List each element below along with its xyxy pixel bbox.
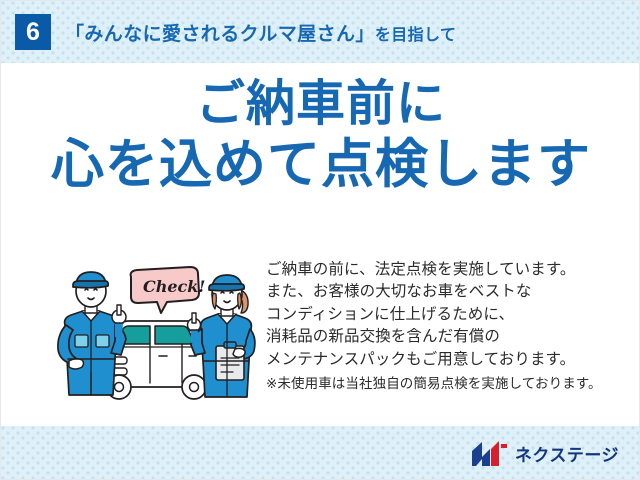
footer-band: ネクステージ — [1, 426, 640, 480]
promo-banner: 6 「みんなに愛されるクルマ屋さん」を目指して ご納車前に 心を込めて点検します… — [0, 0, 640, 480]
n-logo-icon — [470, 441, 508, 467]
header-title-tail: を目指して — [375, 27, 457, 44]
brand-logo-text: ネクステージ — [515, 441, 619, 466]
body-line-1: ご納車の前に、法定点検を実施しています。 — [266, 259, 618, 281]
headline-line-1: ご納車前に — [1, 79, 640, 131]
header-inner: 6 「みんなに愛されるクルマ屋さん」を目指して — [1, 1, 640, 63]
illustration-mechanics-van: Check! — [49, 263, 264, 403]
body-line-3: コンディションに仕上げるために、 — [266, 304, 618, 326]
header-title-main: 「みんなに愛されるクルマ屋さん」 — [65, 24, 375, 45]
body-line-4: 消耗品の新品交換を含んだ有償の — [266, 326, 618, 348]
check-bubble-text: Check! — [143, 277, 205, 296]
body-line-5: メンテナンスパックもご用意しております。 — [266, 349, 618, 371]
main-stage: ご納車前に 心を込めて点検します ご納車の前に、法定点検を実施しています。 また… — [1, 63, 640, 426]
section-number-badge: 6 — [15, 14, 51, 50]
body-footnote: ※未使用車は当社独自の簡易点検を実施しております。 — [266, 374, 618, 394]
header-title: 「みんなに愛されるクルマ屋さん」を目指して — [65, 19, 456, 46]
body-line-2: また、お客様の大切なお車をベストな — [266, 281, 618, 303]
brand-logo: ネクステージ — [470, 426, 619, 480]
page-title: ご納車前に 心を込めて点検します — [1, 79, 640, 193]
body-copy: ご納車の前に、法定点検を実施しています。 また、お客様の大切なお車をベストな コ… — [266, 259, 618, 394]
headline-line-2: 心を込めて点検します — [1, 137, 640, 193]
header-band: 6 「みんなに愛されるクルマ屋さん」を目指して — [1, 1, 640, 63]
